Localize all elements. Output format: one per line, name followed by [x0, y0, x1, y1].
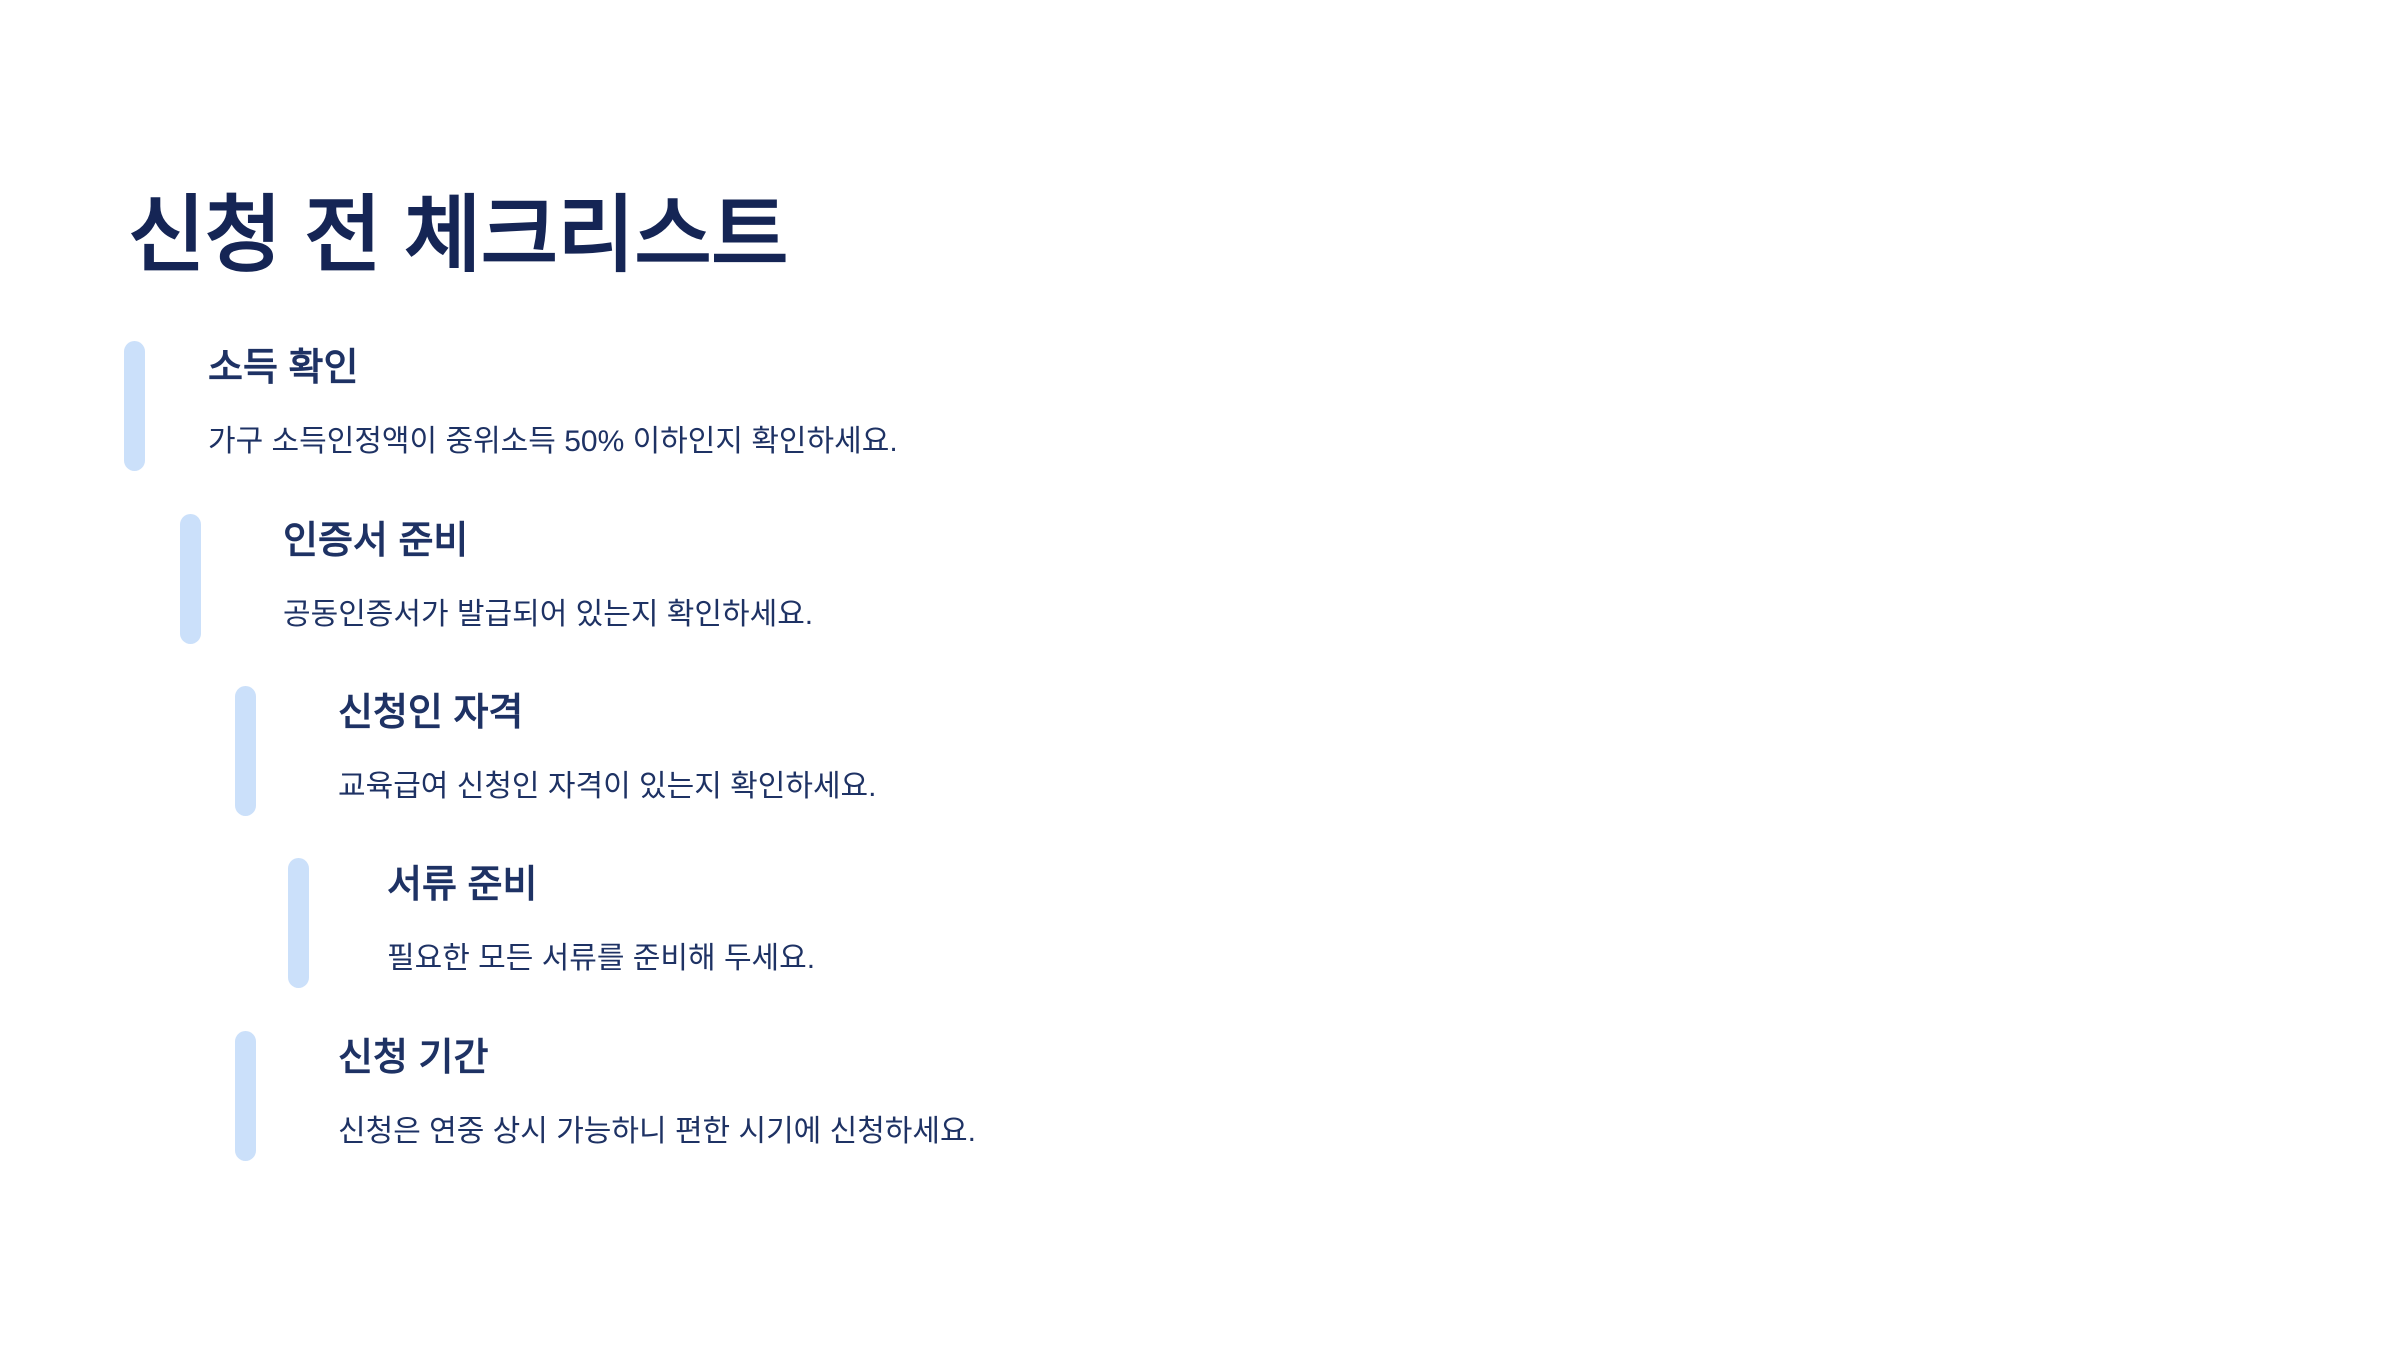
list-item-heading: 소득 확인	[208, 341, 898, 387]
list-item: 서류 준비 필요한 모든 서류를 준비해 두세요.	[288, 858, 815, 988]
list-item-description: 가구 소득인정액이 중위소득 50% 이하인지 확인하세요.	[208, 387, 898, 457]
list-item-heading: 신청 기간	[338, 1031, 976, 1077]
accent-bar-icon	[235, 1031, 256, 1161]
list-item-description: 신청은 연중 상시 가능하니 편한 시기에 신청하세요.	[338, 1077, 976, 1147]
list-item-heading: 서류 준비	[387, 858, 815, 904]
list-item: 인증서 준비 공동인증서가 발급되어 있는지 확인하세요.	[180, 514, 813, 644]
list-item-description: 필요한 모든 서류를 준비해 두세요.	[387, 904, 815, 974]
list-item-body: 신청 기간 신청은 연중 상시 가능하니 편한 시기에 신청하세요.	[256, 1031, 976, 1161]
accent-bar-icon	[180, 514, 201, 644]
list-item: 신청인 자격 교육급여 신청인 자격이 있는지 확인하세요.	[235, 686, 876, 816]
list-item-heading: 신청인 자격	[338, 686, 876, 732]
list-item-description: 공동인증서가 발급되어 있는지 확인하세요.	[283, 560, 813, 630]
accent-bar-icon	[235, 686, 256, 816]
page-title: 신청 전 체크리스트	[128, 187, 788, 284]
list-item-body: 서류 준비 필요한 모든 서류를 준비해 두세요.	[309, 858, 815, 988]
checklist-page: 신청 전 체크리스트 소득 확인 가구 소득인정액이 중위소득 50% 이하인지…	[0, 0, 2400, 1350]
list-item-heading: 인증서 준비	[283, 514, 813, 560]
list-item-body: 신청인 자격 교육급여 신청인 자격이 있는지 확인하세요.	[256, 686, 876, 816]
list-item-body: 인증서 준비 공동인증서가 발급되어 있는지 확인하세요.	[201, 514, 813, 644]
list-item-body: 소득 확인 가구 소득인정액이 중위소득 50% 이하인지 확인하세요.	[145, 341, 898, 471]
list-item: 신청 기간 신청은 연중 상시 가능하니 편한 시기에 신청하세요.	[235, 1031, 976, 1161]
list-item-description: 교육급여 신청인 자격이 있는지 확인하세요.	[338, 732, 876, 802]
accent-bar-icon	[124, 341, 145, 471]
list-item: 소득 확인 가구 소득인정액이 중위소득 50% 이하인지 확인하세요.	[124, 341, 898, 471]
accent-bar-icon	[288, 858, 309, 988]
